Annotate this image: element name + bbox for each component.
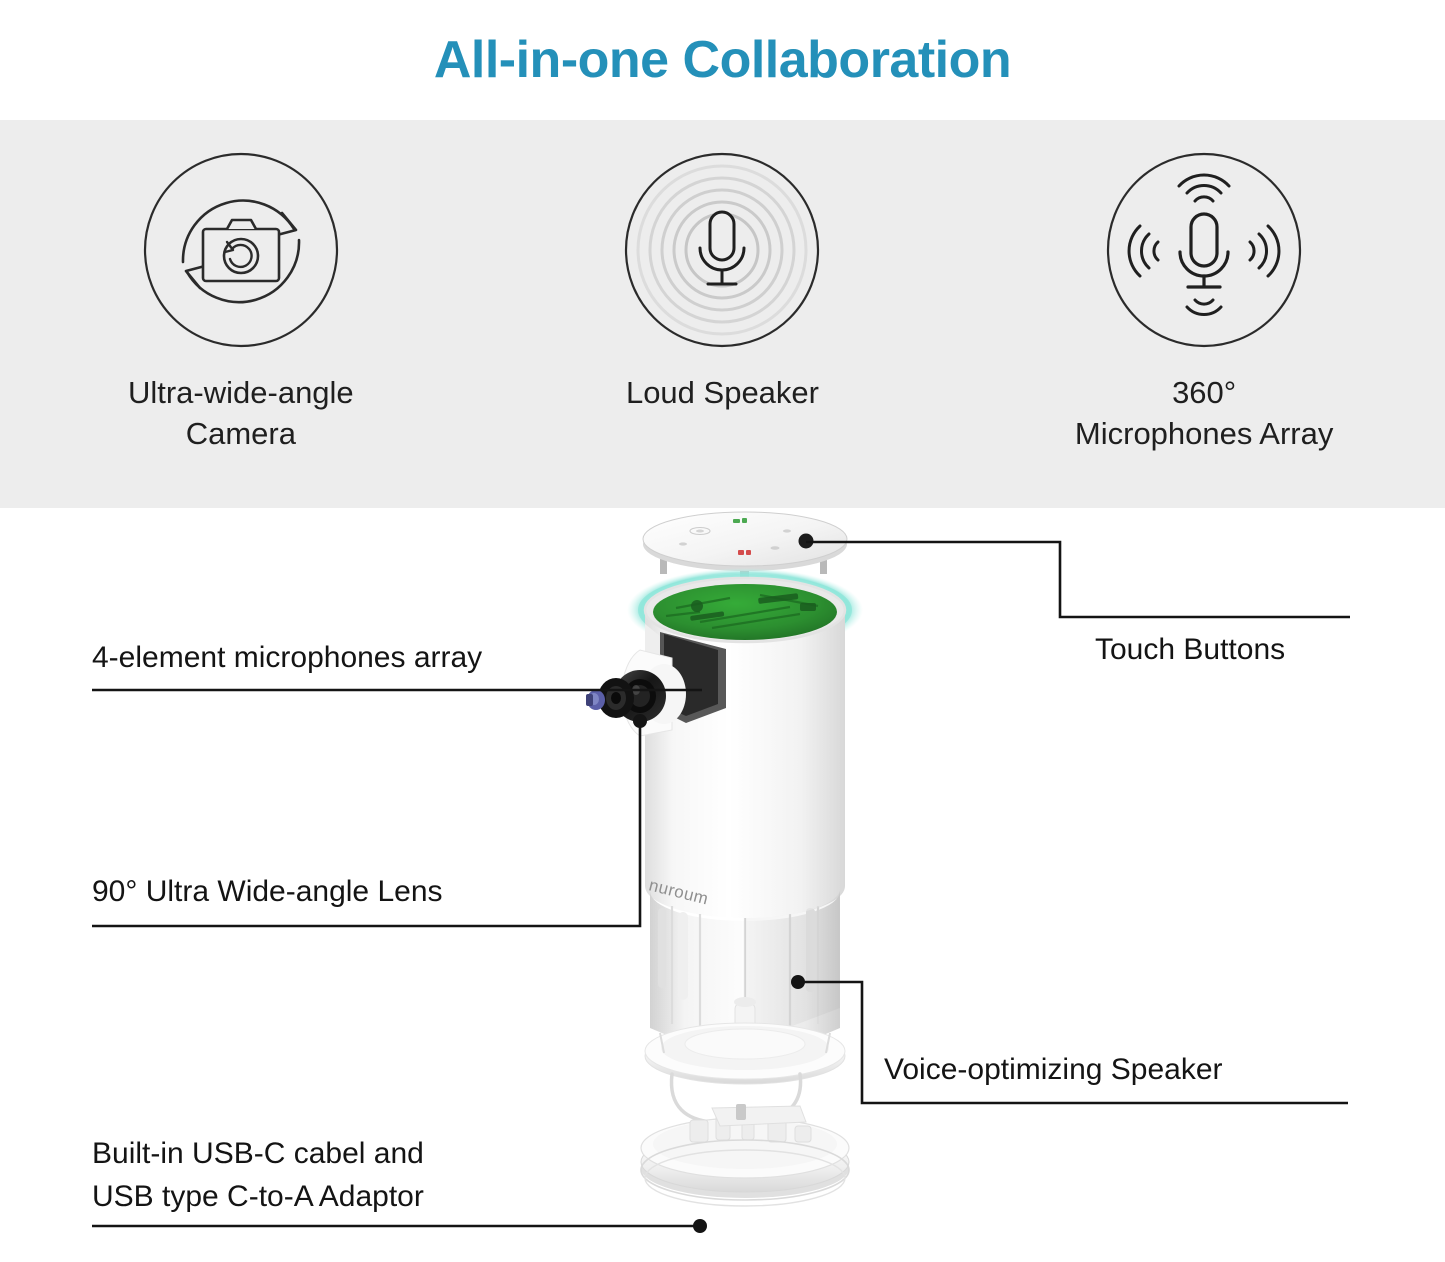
microphone-360-waves-icon xyxy=(1104,150,1304,350)
feature-label: Ultra-wide-angle Camera xyxy=(128,372,354,454)
feature-360-microphones-array: 360° Microphones Array xyxy=(994,150,1414,454)
microphone-soundwave-rings-icon xyxy=(622,150,822,350)
speaker-flange xyxy=(645,1023,845,1084)
speaker-anchor-dot xyxy=(791,975,805,989)
product-diagram: nuroum xyxy=(0,508,1445,1262)
page-title-text: All-in-one Collaboration xyxy=(434,30,1011,90)
callout-usb-label: Built-in USB-C cabel and USB type C-to-A… xyxy=(92,1133,424,1218)
main-cylinder-body xyxy=(622,578,845,918)
feature-label: 360° Microphones Array xyxy=(1075,372,1333,454)
callout-touch-buttons-label: Touch Buttons xyxy=(1095,629,1285,672)
product-assembly: nuroum xyxy=(586,512,863,1206)
usb-anchor-dot xyxy=(693,1219,707,1233)
callout-speaker-label: Voice-optimizing Speaker xyxy=(884,1049,1223,1092)
callout-mic-array-label: 4-element microphones array xyxy=(92,637,482,680)
callout-lens-label: 90° Ultra Wide-angle Lens xyxy=(92,871,443,914)
camera-lens-module xyxy=(586,670,666,722)
feature-loud-speaker: Loud Speaker xyxy=(512,150,932,413)
leader-touch-buttons xyxy=(806,542,1350,617)
lens-anchor-dot xyxy=(633,714,647,728)
base-plate xyxy=(641,1104,849,1206)
feature-ultra-wide-angle-camera: Ultra-wide-angle Camera xyxy=(31,150,451,454)
page-title: All-in-one Collaboration xyxy=(0,0,1445,120)
feature-label: Loud Speaker xyxy=(626,372,819,413)
rotating-camera-icon xyxy=(141,150,341,350)
feature-band: Ultra-wide-angle Camera Loud Speaker xyxy=(0,120,1445,508)
